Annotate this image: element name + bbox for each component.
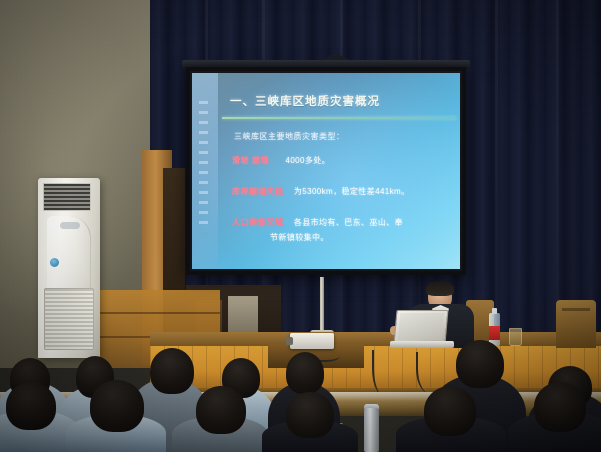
laptop-lid-back [398, 313, 444, 340]
laptop-base[interactable] [390, 341, 454, 348]
slide-bullet-row: 库岸崩塌失稳 为5300km，稳定性差441km。 [232, 186, 458, 197]
photograph-lecture-hall: 一、三峡库区地质灾害概况 三峡库区主要地质灾害类型： 滑坡 崩塌 4000多处。… [0, 0, 601, 452]
air-conditioner-logo [60, 222, 80, 229]
drinking-glass[interactable] [509, 328, 522, 346]
audience-head [286, 392, 334, 438]
slide-bullet-label: 库岸崩塌失稳 [232, 187, 284, 196]
slide-bullet-value: 4000多处。 [285, 156, 330, 165]
audience-head [456, 340, 504, 388]
slide-bullet-row: 滑坡 崩塌 4000多处。 [232, 155, 458, 166]
bottle-cap [492, 308, 497, 314]
wood-panel-groove [100, 312, 220, 314]
water-bottle[interactable] [489, 306, 500, 346]
slide-bullet-value: 各县市均有、巴东、巫山、奉 [294, 218, 403, 227]
slide-bullet-value-continued: 节新镇较集中。 [270, 232, 329, 243]
slide-subtitle: 三峡库区主要地质灾害类型： [234, 131, 444, 142]
thermos-flask[interactable] [364, 408, 379, 452]
audience-head [150, 348, 194, 394]
slide-bullet-value: 为5300km，稳定性差441km。 [294, 187, 410, 196]
audience-head [534, 382, 586, 432]
projection-screen-surface: 一、三峡库区地质灾害概况 三峡库区主要地质灾害类型： 滑坡 崩塌 4000多处。… [192, 73, 460, 269]
slide-bullet-label: 滑坡 崩塌 [232, 156, 269, 165]
bottle-label [489, 326, 500, 340]
slide-title: 一、三峡库区地质灾害概况 [230, 93, 452, 109]
chair-backrest-slat [562, 308, 590, 311]
audience-head [6, 382, 56, 430]
air-conditioner-top-grille-icon [43, 183, 91, 211]
air-conditioner-badge-icon [50, 258, 59, 267]
audience-head [196, 386, 246, 434]
slide-bullet-row: 人口密集区域 各县市均有、巴东、巫山、奉 [232, 217, 458, 228]
slide-side-band-ticks [199, 101, 208, 231]
slide-bullet-label: 人口密集区域 [232, 218, 284, 227]
slide-title-divider [222, 117, 456, 119]
audience-head [424, 386, 476, 436]
projector-lens-icon [286, 337, 293, 345]
audience-head [90, 380, 144, 432]
glasses-icon [430, 294, 450, 298]
screen-tripod-pole [320, 277, 324, 333]
projector[interactable] [290, 333, 334, 349]
air-conditioner-bottom-grille-icon [44, 288, 94, 350]
audience-head [286, 352, 324, 394]
